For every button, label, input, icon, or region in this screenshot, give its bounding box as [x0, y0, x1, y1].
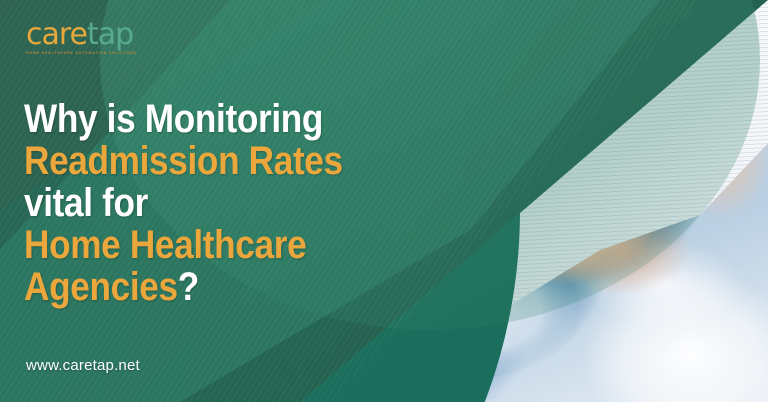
- logo-wordmark: caretap: [26, 20, 176, 50]
- headline-question-mark: ?: [178, 265, 199, 309]
- website-url[interactable]: www.caretap.net: [26, 357, 140, 374]
- logo-care-text: care: [26, 17, 87, 52]
- headline-line-5: Agencies?: [24, 266, 402, 308]
- headline-line-5-word: Agencies: [24, 265, 178, 309]
- headline: Why is Monitoring Readmission Rates vita…: [24, 98, 454, 308]
- headline-line-1: Why is Monitoring: [24, 98, 402, 140]
- banner-content: caretap HOME HEALTHCARE AUTOMATION SOLUT…: [0, 0, 768, 402]
- headline-line-2: Readmission Rates: [24, 140, 402, 182]
- caretap-logo[interactable]: caretap HOME HEALTHCARE AUTOMATION SOLUT…: [26, 20, 176, 56]
- logo-tap-text: tap: [87, 17, 133, 52]
- promo-banner: caretap HOME HEALTHCARE AUTOMATION SOLUT…: [0, 0, 768, 402]
- headline-line-3: vital for: [24, 182, 402, 224]
- logo-tagline: HOME HEALTHCARE AUTOMATION SOLUTIONS: [26, 51, 176, 56]
- headline-line-4: Home Healthcare: [24, 224, 402, 266]
